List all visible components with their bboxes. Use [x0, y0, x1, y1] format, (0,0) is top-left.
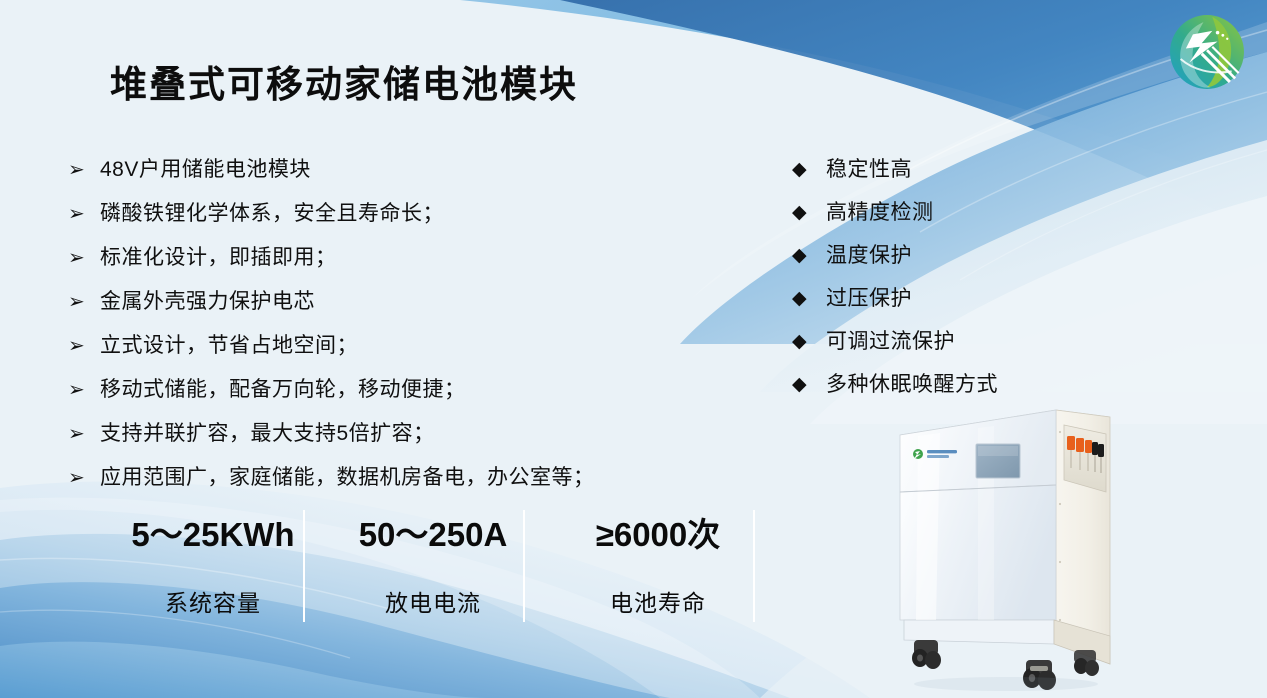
arrow-bullet-icon: ➢	[68, 280, 100, 324]
spec-label: 放电电流	[338, 584, 528, 618]
spec-summary-strip: 5〜25KWh 系统容量 50〜250A 放电电流 ≥6000次 电池寿命	[108, 508, 758, 623]
list-item: ➢ 支持并联扩容，最大支持5倍扩容；	[68, 412, 708, 456]
features-left-list: ➢ 48V户用储能电池模块 ➢ 磷酸铁锂化学体系，安全且寿命长； ➢ 标准化设计…	[68, 148, 708, 500]
list-item-label: 高精度检测	[826, 191, 934, 234]
list-item-label: 磷酸铁锂化学体系，安全且寿命长；	[100, 192, 444, 236]
arrow-bullet-icon: ➢	[68, 324, 100, 368]
list-item: ➢ 标准化设计，即插即用；	[68, 236, 708, 280]
list-item-label: 过压保护	[826, 277, 912, 320]
list-item-label: 移动式储能，配备万向轮，移动便捷；	[100, 368, 466, 412]
diamond-bullet-icon: ◆	[792, 148, 826, 191]
diamond-bullet-icon: ◆	[792, 191, 826, 234]
spec-value: 50〜250A	[338, 508, 528, 556]
list-item-label: 可调过流保护	[826, 320, 955, 363]
list-item: ➢ 48V户用储能电池模块	[68, 148, 708, 192]
diamond-bullet-icon: ◆	[792, 363, 826, 406]
list-item-label: 金属外壳强力保护电芯	[100, 280, 315, 324]
spec-discharge-current: 50〜250A 放电电流	[338, 508, 528, 618]
list-item: ◆ 可调过流保护	[792, 320, 1092, 363]
list-item-label: 标准化设计，即插即用；	[100, 236, 337, 280]
list-item: ➢ 应用范围广，家庭储能，数据机房备电，办公室等；	[68, 456, 708, 500]
list-item: ➢ 移动式储能，配备万向轮，移动便捷；	[68, 368, 708, 412]
list-item-label: 支持并联扩容，最大支持5倍扩容；	[100, 412, 435, 456]
list-item: ◆ 稳定性高	[792, 148, 1092, 191]
list-item: ➢ 立式设计，节省占地空间；	[68, 324, 708, 368]
company-logo-icon	[1163, 8, 1251, 96]
arrow-bullet-icon: ➢	[68, 412, 100, 456]
list-item: ◆ 高精度检测	[792, 191, 1092, 234]
list-item-label: 立式设计，节省占地空间；	[100, 324, 358, 368]
list-item-label: 稳定性高	[826, 148, 912, 191]
diamond-bullet-icon: ◆	[792, 234, 826, 277]
list-item: ➢ 磷酸铁锂化学体系，安全且寿命长；	[68, 192, 708, 236]
spec-label: 电池寿命	[563, 584, 753, 618]
list-item-label: 48V户用储能电池模块	[100, 148, 311, 192]
spec-value: ≥6000次	[563, 508, 753, 556]
diamond-bullet-icon: ◆	[792, 277, 826, 320]
page-title: 堆叠式可移动家储电池模块	[110, 54, 578, 108]
arrow-bullet-icon: ➢	[68, 148, 100, 192]
spec-divider	[753, 510, 755, 622]
spec-capacity: 5〜25KWh 系统容量	[118, 508, 308, 618]
arrow-bullet-icon: ➢	[68, 456, 100, 500]
list-item: ➢ 金属外壳强力保护电芯	[68, 280, 708, 324]
arrow-bullet-icon: ➢	[68, 236, 100, 280]
diamond-bullet-icon: ◆	[792, 320, 826, 363]
spec-value: 5〜25KWh	[118, 508, 308, 556]
features-right-list: ◆ 稳定性高 ◆ 高精度检测 ◆ 温度保护 ◆ 过压保护 ◆ 可调过流保护 ◆ …	[792, 148, 1092, 406]
list-item-label: 应用范围广，家庭储能，数据机房备电，办公室等；	[100, 456, 595, 500]
list-item: ◆ 过压保护	[792, 277, 1092, 320]
list-item-label: 温度保护	[826, 234, 912, 277]
list-item: ◆ 温度保护	[792, 234, 1092, 277]
product-image-battery-cabinet	[878, 392, 1128, 692]
spec-cycle-life: ≥6000次 电池寿命	[563, 508, 753, 618]
spec-label: 系统容量	[118, 584, 308, 618]
slide-root: 堆叠式可移动家储电池模块 ➢ 48V户用储能电池模块 ➢ 磷酸铁锂化学体系，安全…	[0, 0, 1267, 698]
arrow-bullet-icon: ➢	[68, 368, 100, 412]
arrow-bullet-icon: ➢	[68, 192, 100, 236]
